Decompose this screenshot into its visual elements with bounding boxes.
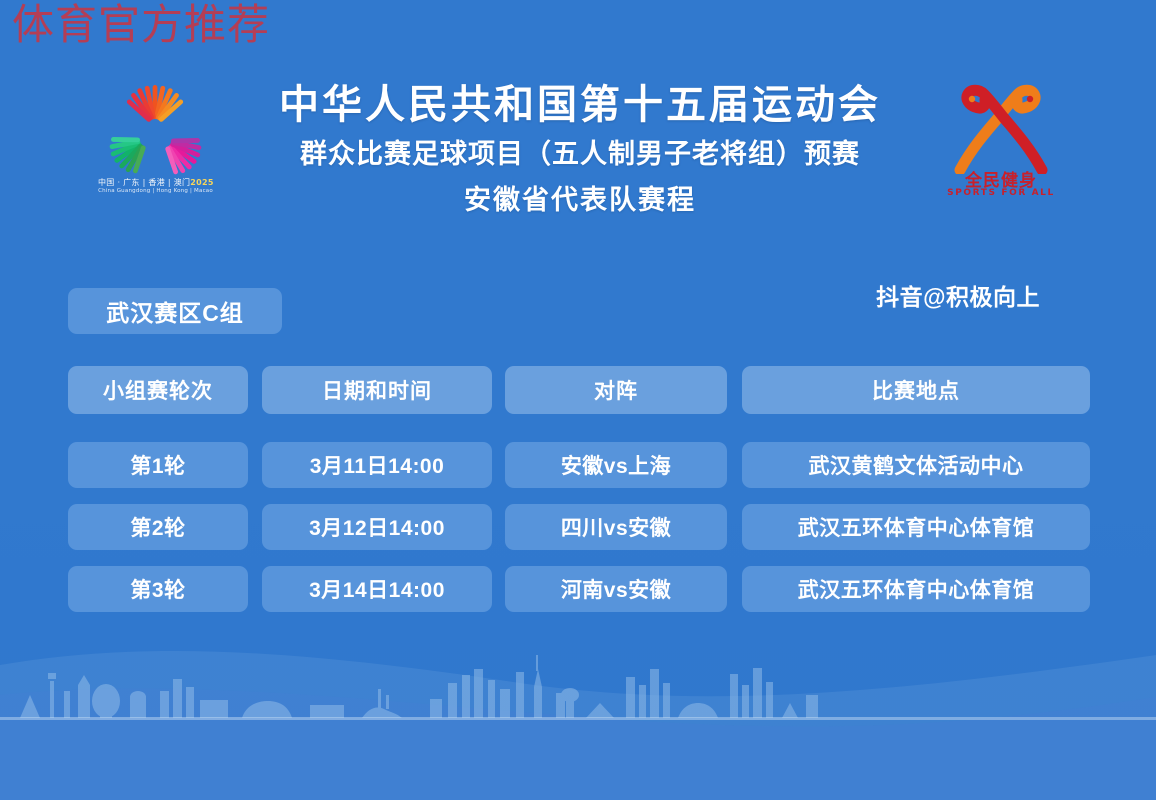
- city-skyline-silhouette-icon: [0, 625, 1156, 800]
- cell-matchup-label: 河南vs安徽: [561, 574, 671, 604]
- cell-venue: 武汉黄鹤文体活动中心: [742, 442, 1090, 488]
- cell-venue-label: 武汉黄鹤文体活动中心: [809, 450, 1024, 480]
- cell-round: 第2轮: [68, 504, 248, 550]
- cell-datetime-label: 3月11日14:00: [310, 450, 445, 480]
- cell-datetime-label: 3月14日14:00: [309, 574, 445, 604]
- cell-matchup: 河南vs安徽: [505, 566, 727, 612]
- cell-matchup-label: 安徽vs上海: [561, 450, 671, 480]
- cell-round-label: 第3轮: [130, 574, 185, 604]
- douyin-handle: 抖音@积极向上: [760, 278, 1040, 312]
- table-row: 第1轮 3月11日14:00 安徽vs上海 武汉黄鹤文体活动中心: [0, 442, 1156, 488]
- cell-venue: 武汉五环体育中心体育馆: [742, 566, 1090, 612]
- cell-round: 第1轮: [68, 442, 248, 488]
- cell-round-label: 第1轮: [130, 450, 185, 480]
- schedule-table: 小组赛轮次 日期和时间 对阵 比赛地点 第1轮 3月11日14:00 安徽vs上…: [0, 366, 1156, 628]
- cell-datetime-label: 3月12日14:00: [309, 512, 445, 542]
- column-header-venue: 比赛地点: [742, 366, 1090, 414]
- team-schedule-title: 安徽省代表队赛程: [185, 176, 975, 224]
- group-badge: 武汉赛区C组: [68, 288, 282, 334]
- cell-matchup-label: 四川vs安徽: [561, 512, 671, 542]
- cell-datetime: 3月14日14:00: [262, 566, 492, 612]
- table-row: 第3轮 3月14日14:00 河南vs安徽 武汉五环体育中心体育馆: [0, 566, 1156, 612]
- poster-header: 中国 · 广东 | 香港 | 澳门2025 China Guangdong | …: [0, 78, 1156, 268]
- page-title: 中华人民共和国第十五届运动会: [185, 78, 975, 132]
- column-header-round-label: 小组赛轮次: [103, 375, 213, 405]
- sports-for-all-caption-en: SPORTS FOR ALL: [940, 188, 1062, 198]
- cell-round-label: 第2轮: [130, 512, 185, 542]
- column-header-matchup-label: 对阵: [594, 375, 638, 405]
- logo-caption-cn-text: 中国 · 广东 | 香港 | 澳门: [98, 178, 190, 187]
- sports-for-all-figures-icon: [946, 82, 1056, 174]
- sports-for-all-logo: 全民健身 SPORTS FOR ALL: [940, 82, 1062, 207]
- cell-matchup: 四川vs安徽: [505, 504, 727, 550]
- table-header-row: 小组赛轮次 日期和时间 对阵 比赛地点: [0, 366, 1156, 414]
- title-block: 中华人民共和国第十五届运动会 群众比赛足球项目（五人制男子老将组）预赛 安徽省代…: [185, 78, 975, 224]
- column-header-matchup: 对阵: [505, 366, 727, 414]
- cell-venue: 武汉五环体育中心体育馆: [742, 504, 1090, 550]
- column-header-venue-label: 比赛地点: [872, 375, 960, 405]
- column-header-datetime-label: 日期和时间: [322, 375, 432, 405]
- cell-venue-label: 武汉五环体育中心体育馆: [798, 512, 1035, 542]
- cell-venue-label: 武汉五环体育中心体育馆: [798, 574, 1035, 604]
- cell-datetime: 3月11日14:00: [262, 442, 492, 488]
- cell-round: 第3轮: [68, 566, 248, 612]
- group-badge-label: 武汉赛区C组: [106, 294, 244, 328]
- column-header-round: 小组赛轮次: [68, 366, 248, 414]
- table-row: 第2轮 3月12日14:00 四川vs安徽 武汉五环体育中心体育馆: [0, 504, 1156, 550]
- cell-datetime: 3月12日14:00: [262, 504, 492, 550]
- watermark-text: 体育官方推荐: [12, 2, 270, 48]
- column-header-datetime: 日期和时间: [262, 366, 492, 414]
- poster-canvas: 体育官方推荐: [0, 0, 1156, 800]
- cell-matchup: 安徽vs上海: [505, 442, 727, 488]
- event-subtitle: 群众比赛足球项目（五人制男子老将组）预赛: [185, 132, 975, 176]
